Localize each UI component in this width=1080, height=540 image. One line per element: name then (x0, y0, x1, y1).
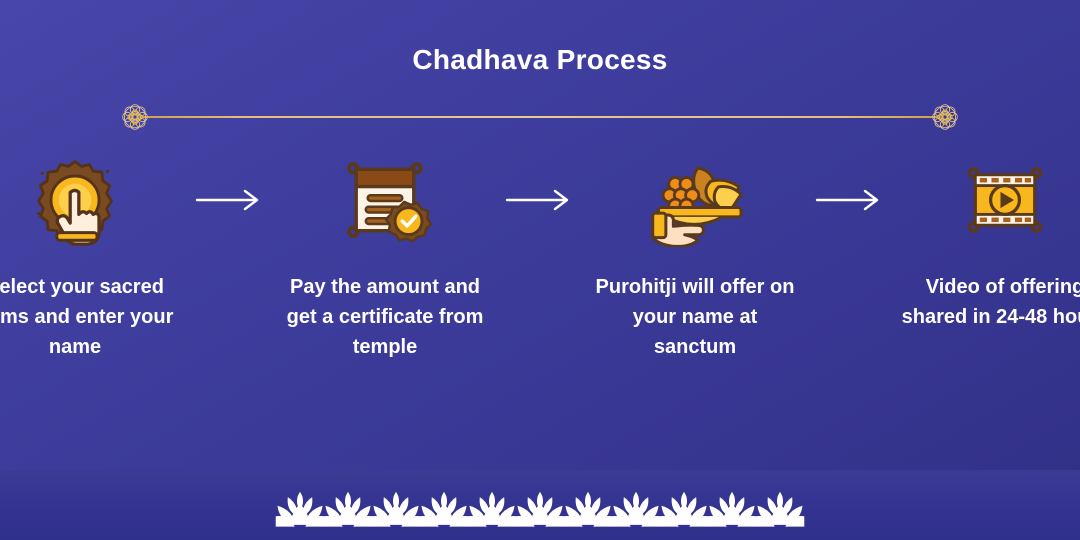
lotus-flower-icon (370, 490, 422, 532)
decorative-divider (118, 100, 962, 134)
step-label: Video of offering shared in 24-48 hours (900, 272, 1080, 332)
slide-canvas: Chadhava Process (0, 0, 1080, 540)
lotus-flower-icon (754, 490, 806, 532)
mandala-medallion-icon (118, 100, 152, 134)
lotus-flower-icon (658, 490, 710, 532)
step-label: Purohitji will offer on your name at san… (590, 272, 800, 362)
lotus-flower-icon (418, 490, 470, 532)
lotus-flower-icon (322, 490, 374, 532)
film-strip-play-icon (957, 150, 1053, 250)
mandala-medallion-icon (928, 100, 962, 134)
lotus-flower-icon (610, 490, 662, 532)
lotus-flower-icon (466, 490, 518, 532)
step-label: Select your sacred items and enter your … (0, 272, 180, 362)
hand-tap-sacred-item-icon (27, 150, 123, 250)
process-step-1[interactable]: Select your sacred items and enter your … (0, 150, 180, 362)
arrow-right-icon (800, 150, 900, 250)
process-step-2[interactable]: Pay the amount and get a certificate fro… (280, 150, 490, 362)
process-step-3[interactable]: Purohitji will offer on your name at san… (590, 150, 800, 362)
certificate-seal-icon (337, 150, 433, 250)
lotus-flower-icon (706, 490, 758, 532)
lotus-flower-icon (274, 490, 326, 532)
hand-offering-tray-icon (643, 150, 747, 250)
process-steps: Select your sacred items and enter your … (0, 150, 1080, 370)
lotus-row (0, 486, 1080, 532)
divider-line (142, 116, 938, 118)
step-label: Pay the amount and get a certificate fro… (280, 272, 490, 362)
footer-ornament-band (0, 470, 1080, 540)
arrow-right-icon (180, 150, 280, 250)
lotus-flower-icon (562, 490, 614, 532)
page-title: Chadhava Process (0, 44, 1080, 76)
process-step-4[interactable]: Video of offering shared in 24-48 hours (900, 150, 1080, 332)
arrow-right-icon (490, 150, 590, 250)
lotus-flower-icon (514, 490, 566, 532)
